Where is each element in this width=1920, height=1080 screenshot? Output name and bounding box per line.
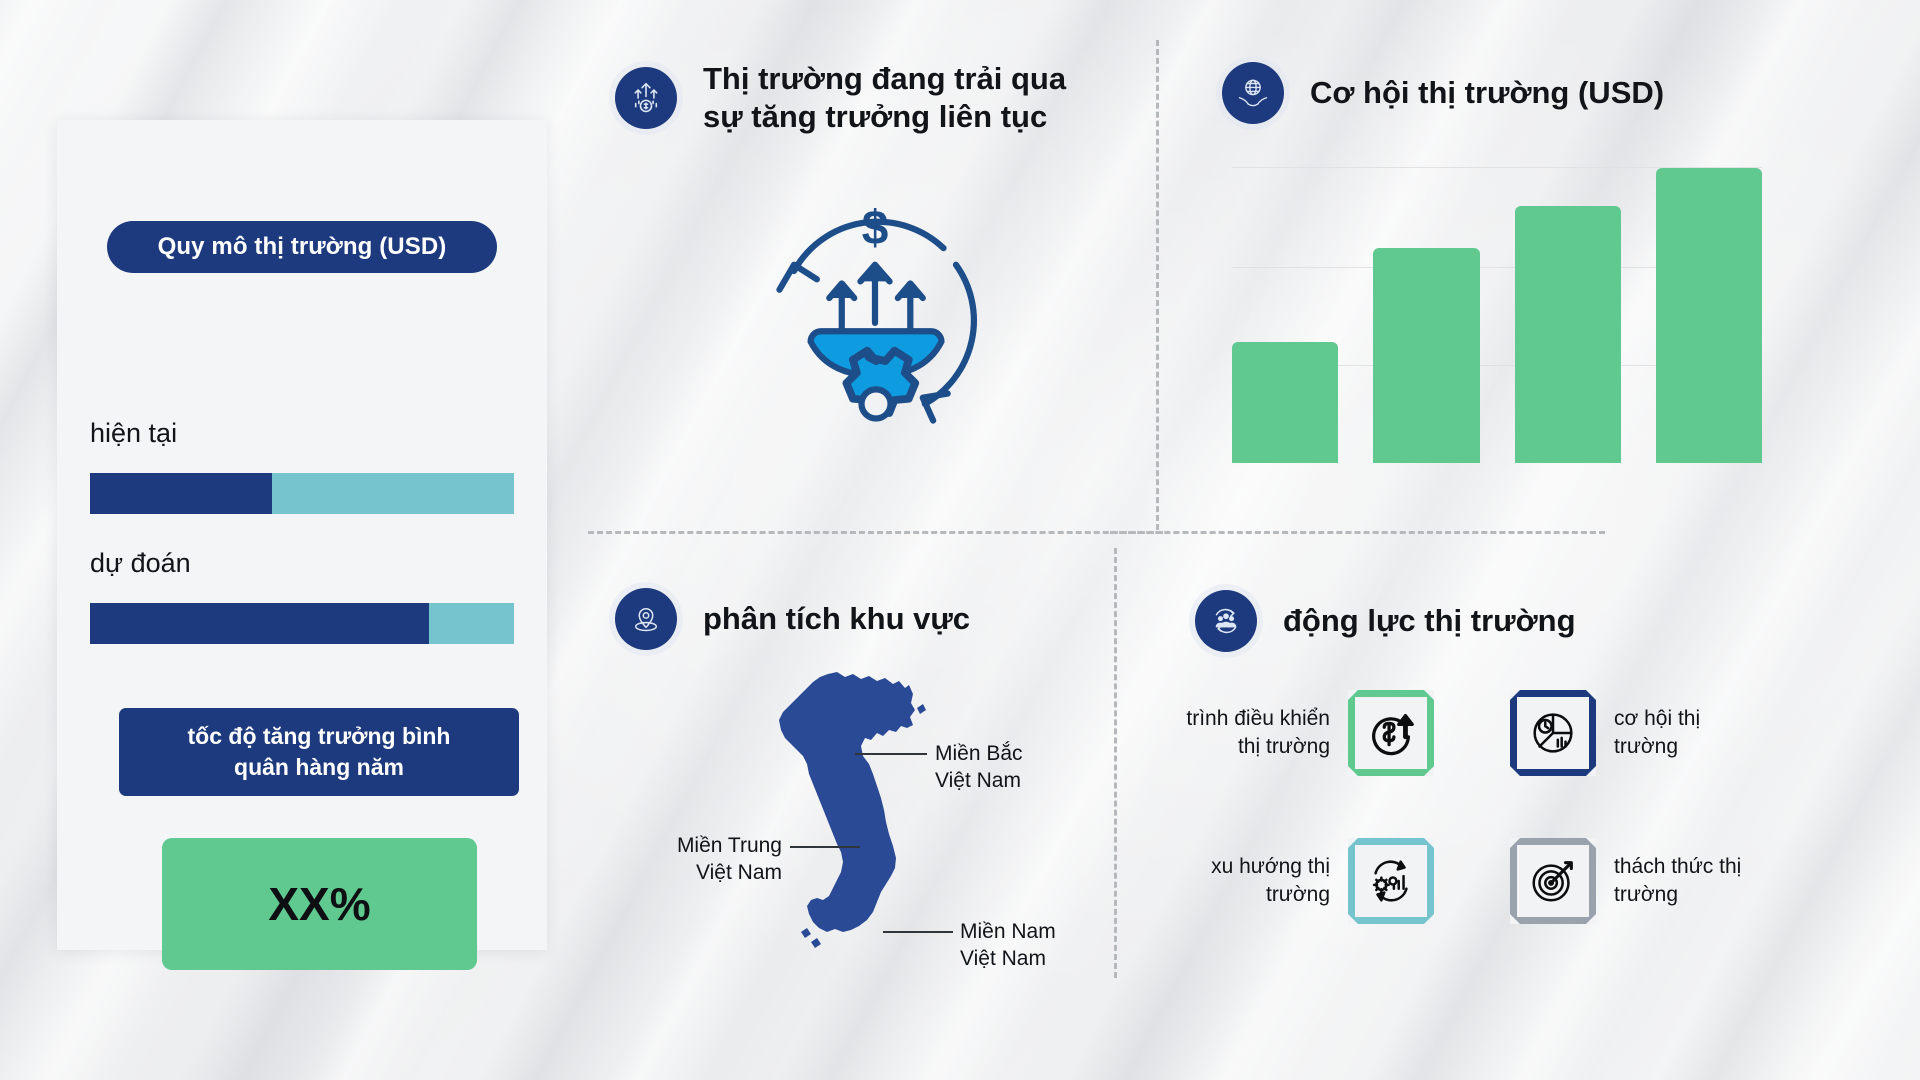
metric-label-forecast: dự đoán [90,548,191,579]
map-label-north: Miền Bắc Việt Nam [935,740,1023,795]
driver-label-line1: cơ hội thị [1614,705,1794,733]
chart-bar [1515,206,1621,463]
map-label-south: Miền Nam Việt Nam [960,918,1056,973]
chart-bar [1656,168,1762,463]
cagr-label-line1: tốc độ tăng trưởng bình [188,721,451,752]
gears-trend-chart-icon [1348,838,1434,924]
regional-map-area: Miền Bắc Việt Nam Miền Trung Việt Nam Mi… [600,660,1160,990]
growth-title-line2: sự tăng trưởng liên tục [703,98,1066,136]
driver-item-market-challenge[interactable]: thách thức thị trường [1510,838,1794,924]
section-header-growth: Thị trường đang trải qua sự tăng trưởng … [615,60,1066,136]
chart-bar [1232,342,1338,463]
growth-money-arrows-icon [615,67,677,129]
chart-bar [1373,248,1479,463]
cagr-label-line2: quân hàng năm [234,752,404,783]
people-cycle-icon [1195,590,1257,652]
circular-arrows-gear-dollar-growth-icon: $ [740,190,1010,440]
market-drivers-grid: trình điều khiển thị trường [1150,690,1850,960]
section-title-growth: Thị trường đang trải qua sự tăng trưởng … [703,60,1066,136]
location-pin-icon [615,588,677,650]
section-title-drivers: động lực thị trường [1283,602,1576,640]
driver-label-line1: xu hướng thị [1150,853,1330,881]
driver-item-market-driver[interactable]: trình điều khiển thị trường [1150,690,1434,776]
driver-label-line1: trình điều khiển [1150,705,1330,733]
map-label-central: Miền Trung Việt Nam [622,832,782,887]
divider-horizontal-right [1110,531,1605,534]
driver-label-line2: trường [1150,881,1330,909]
map-label-south-line1: Miền Nam [960,918,1056,945]
target-dart-icon [1510,838,1596,924]
driver-label-market-trend: xu hướng thị trường [1150,853,1330,908]
vietnam-map [765,670,945,975]
divider-horizontal-left [588,531,1163,534]
driver-label-market-challenge: thách thức thị trường [1614,853,1794,908]
driver-label-market-driver: trình điều khiển thị trường [1150,705,1330,760]
dollar-up-arrow-icon [1348,690,1434,776]
cagr-value-box: XX% [162,838,477,970]
map-label-north-line2: Việt Nam [935,767,1023,794]
map-label-central-line2: Việt Nam [622,859,782,886]
cagr-label-box: tốc độ tăng trưởng bình quân hàng năm [119,708,519,796]
map-label-north-line1: Miền Bắc [935,740,1023,767]
progress-bar-forecast-fill [90,603,429,644]
driver-label-line1: thách thức thị [1614,853,1794,881]
section-header-drivers: động lực thị trường [1195,590,1576,652]
leader-line-south [883,931,953,933]
metric-label-current: hiện tại [90,418,177,449]
leader-line-central [790,846,860,848]
leader-line-north [855,753,927,755]
market-size-title-pill: Quy mô thị trường (USD) [107,221,497,273]
infographic-root: Quy mô thị trường (USD) hiện tại dự đoán… [0,0,1920,1080]
chart-bars [1232,168,1762,463]
driver-label-line2: thị trường [1150,733,1330,761]
divider-vertical-top [1156,40,1159,530]
section-title-opportunity: Cơ hội thị trường (USD) [1310,74,1664,112]
map-label-central-line1: Miền Trung [622,832,782,859]
section-title-regional: phân tích khu vực [703,600,970,638]
svg-text:$: $ [862,202,889,255]
driver-label-line2: trường [1614,881,1794,909]
market-opportunity-bar-chart [1232,168,1762,463]
growth-title-line1: Thị trường đang trải qua [703,60,1066,98]
driver-item-market-opportunity[interactable]: cơ hội thị trường [1510,690,1794,776]
map-label-south-line2: Việt Nam [960,945,1056,972]
globe-in-hands-icon [1222,62,1284,124]
section-header-regional: phân tích khu vực [615,588,970,650]
progress-bar-current-fill [90,473,272,514]
progress-bar-current [90,473,514,514]
driver-label-market-opportunity: cơ hội thị trường [1614,705,1794,760]
market-size-card: Quy mô thị trường (USD) hiện tại dự đoán… [57,120,547,950]
progress-bar-forecast [90,603,514,644]
driver-item-market-trend[interactable]: xu hướng thị trường [1150,838,1434,924]
section-header-opportunity: Cơ hội thị trường (USD) [1222,62,1664,124]
pie-chart-clock-icon [1510,690,1596,776]
driver-label-line2: trường [1614,733,1794,761]
